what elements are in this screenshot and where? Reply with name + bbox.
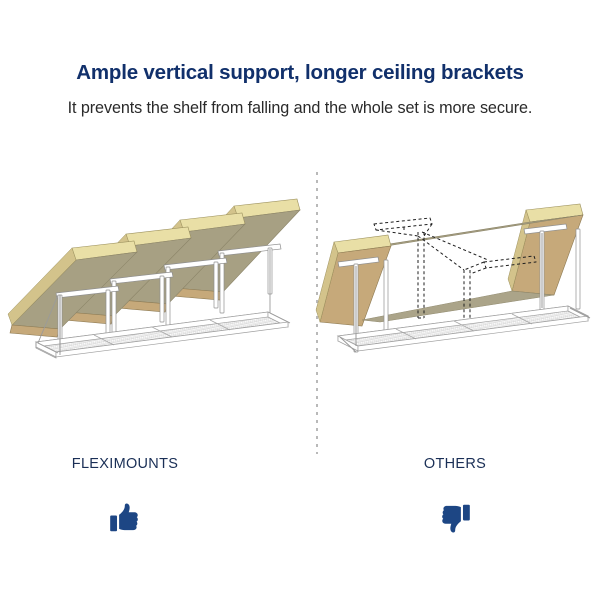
ceiling-bracket [214,262,218,308]
fleximounts-label: FLEXIMOUNTS [0,455,255,473]
fleximounts-verdict-block: FLEXIMOUNTS [0,455,255,541]
ceiling-bracket [106,290,110,338]
page-title: Ample vertical support, longer ceiling b… [0,60,600,86]
page-subtitle: It prevents the shelf from falling and t… [0,96,600,120]
others-label: OTHERS [325,455,585,473]
ceiling-bracket [576,229,580,309]
others-verdict-block: OTHERS [325,455,585,541]
thumbs-down-icon [325,495,585,541]
others-rack-illustration [318,196,600,406]
ceiling-bracket [160,276,164,322]
fleximounts-rack-illustration [2,196,302,406]
comparison-infographic: Ample vertical support, longer ceiling b… [0,0,600,600]
thumbs-up-icon [0,495,255,541]
ceiling-joist [316,235,391,326]
